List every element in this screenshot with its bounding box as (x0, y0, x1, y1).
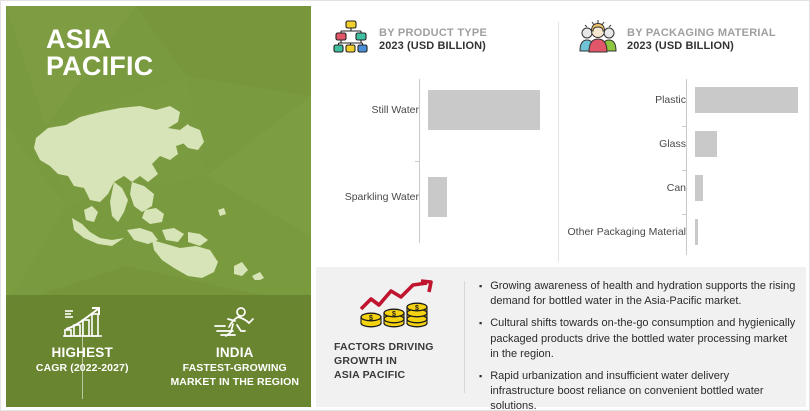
factors-title: FACTORS DRIVING GROWTH IN ASIA PACIFIC (330, 340, 458, 383)
chart-header: BY PRODUCT TYPE 2023 (USD BILLION) (316, 6, 558, 61)
bar-label: Glass (562, 138, 695, 151)
stat-subtitle: FASTEST-GROWING (159, 362, 312, 375)
org-chart-icon (332, 18, 370, 61)
bullet-icon: ▪ (479, 279, 482, 309)
bar-row: Glass (562, 131, 806, 157)
page-title: ASIA PACIFIC (46, 26, 153, 80)
axis-tick (682, 126, 686, 127)
infographic-root: ASIA PACIFIC (0, 0, 810, 411)
stat-india-fastest: INDIA FASTEST-GROWING MARKET IN THE REGI… (159, 305, 312, 389)
bar-row: Plastic (562, 87, 806, 113)
svg-text:$: $ (392, 311, 396, 318)
charts-divider (558, 22, 559, 262)
factors-title-line1: FACTORS DRIVING (334, 340, 458, 354)
factor-text: Rapid urbanization and insufficient wate… (490, 369, 796, 411)
axis-tick (415, 161, 419, 162)
map-svg (28, 90, 293, 280)
region-panel: ASIA PACIFIC (6, 6, 311, 407)
chart-header-text: BY PRODUCT TYPE 2023 (USD BILLION) (379, 27, 487, 53)
people-group-svg (578, 18, 618, 56)
bar-glass (695, 131, 717, 157)
chart-subtitle: 2023 (USD BILLION) (627, 40, 776, 53)
people-group-icon (578, 18, 618, 61)
stat-highest-cagr: HIGHEST CAGR (2022-2027) (6, 305, 159, 375)
packaging-material-plot: Plastic Glass Can Other Packaging Materi… (562, 73, 806, 258)
factor-text: Growing awareness of health and hydratio… (490, 279, 796, 309)
bar-row: Still Water (316, 90, 558, 130)
running-person-icon (159, 305, 312, 341)
factors-title-line2: GROWTH IN (334, 354, 458, 368)
factors-title-line3: ASIA PACIFIC (334, 368, 458, 382)
bullet-icon: ▪ (479, 369, 482, 411)
bar-plastic (695, 87, 798, 113)
product-type-plot: Still Water Sparkling Water (316, 73, 558, 258)
bar-still-water (428, 90, 540, 130)
chart-kicker: BY PRODUCT TYPE (379, 27, 487, 40)
bar-row: Sparkling Water (316, 177, 558, 217)
stat-divider (82, 319, 83, 399)
bullet-icon: ▪ (479, 316, 482, 362)
bar-label: Can (562, 182, 695, 195)
charts-area: BY PRODUCT TYPE 2023 (USD BILLION) Still… (316, 6, 806, 264)
bar-label: Plastic (562, 94, 695, 107)
stat-title: INDIA (159, 345, 312, 361)
region-title-line2: PACIFIC (46, 53, 153, 80)
factors-list: ▪ Growing awareness of health and hydrat… (465, 267, 806, 407)
svg-text:$: $ (415, 305, 419, 312)
org-chart-svg (332, 18, 370, 56)
bar-label: Sparkling Water (316, 191, 428, 204)
bar-other-packaging (695, 219, 698, 245)
list-item: ▪ Cultural shifts towards on-the-go cons… (479, 316, 796, 362)
bar-sparkling-water (428, 177, 447, 217)
list-item: ▪ Rapid urbanization and insufficient wa… (479, 369, 796, 411)
factor-text: Cultural shifts towards on-the-go consum… (490, 316, 796, 362)
rising-coins-svg: $ $ $ (351, 279, 437, 329)
factors-left: $ $ $ FACTORS DRIVING GROWTH IN ASIA PAC… (316, 267, 464, 407)
region-stats-band: HIGHEST CAGR (2022-2027) (6, 295, 311, 407)
bar-row: Other Packaging Material (562, 219, 806, 245)
region-title-line1: ASIA (46, 24, 111, 54)
chart-kicker: BY PACKAGING MATERIAL (627, 27, 776, 40)
chart-header: BY PACKAGING MATERIAL 2023 (USD BILLION) (562, 6, 806, 61)
bar-label: Still Water (316, 104, 428, 117)
factors-driving-growth-panel: $ $ $ FACTORS DRIVING GROWTH IN ASIA PAC… (316, 267, 806, 407)
chart-by-product-type: BY PRODUCT TYPE 2023 (USD BILLION) Still… (316, 6, 558, 264)
axis-tick (682, 170, 686, 171)
chart-header-text: BY PACKAGING MATERIAL 2023 (USD BILLION) (627, 27, 776, 53)
bar-can (695, 175, 703, 201)
rising-coins-icon: $ $ $ (351, 316, 437, 333)
runner-svg (211, 305, 259, 341)
chart-subtitle: 2023 (USD BILLION) (379, 40, 487, 53)
list-item: ▪ Growing awareness of health and hydrat… (479, 279, 796, 309)
bar-row: Can (562, 175, 806, 201)
chart-by-packaging-material: BY PACKAGING MATERIAL 2023 (USD BILLION)… (562, 6, 806, 264)
axis-tick (682, 214, 686, 215)
svg-text:$: $ (369, 315, 373, 322)
asia-pacific-map-icon (28, 90, 293, 280)
bar-label: Other Packaging Material (562, 226, 695, 239)
stat-subtitle-2: MARKET IN THE REGION (159, 376, 312, 389)
